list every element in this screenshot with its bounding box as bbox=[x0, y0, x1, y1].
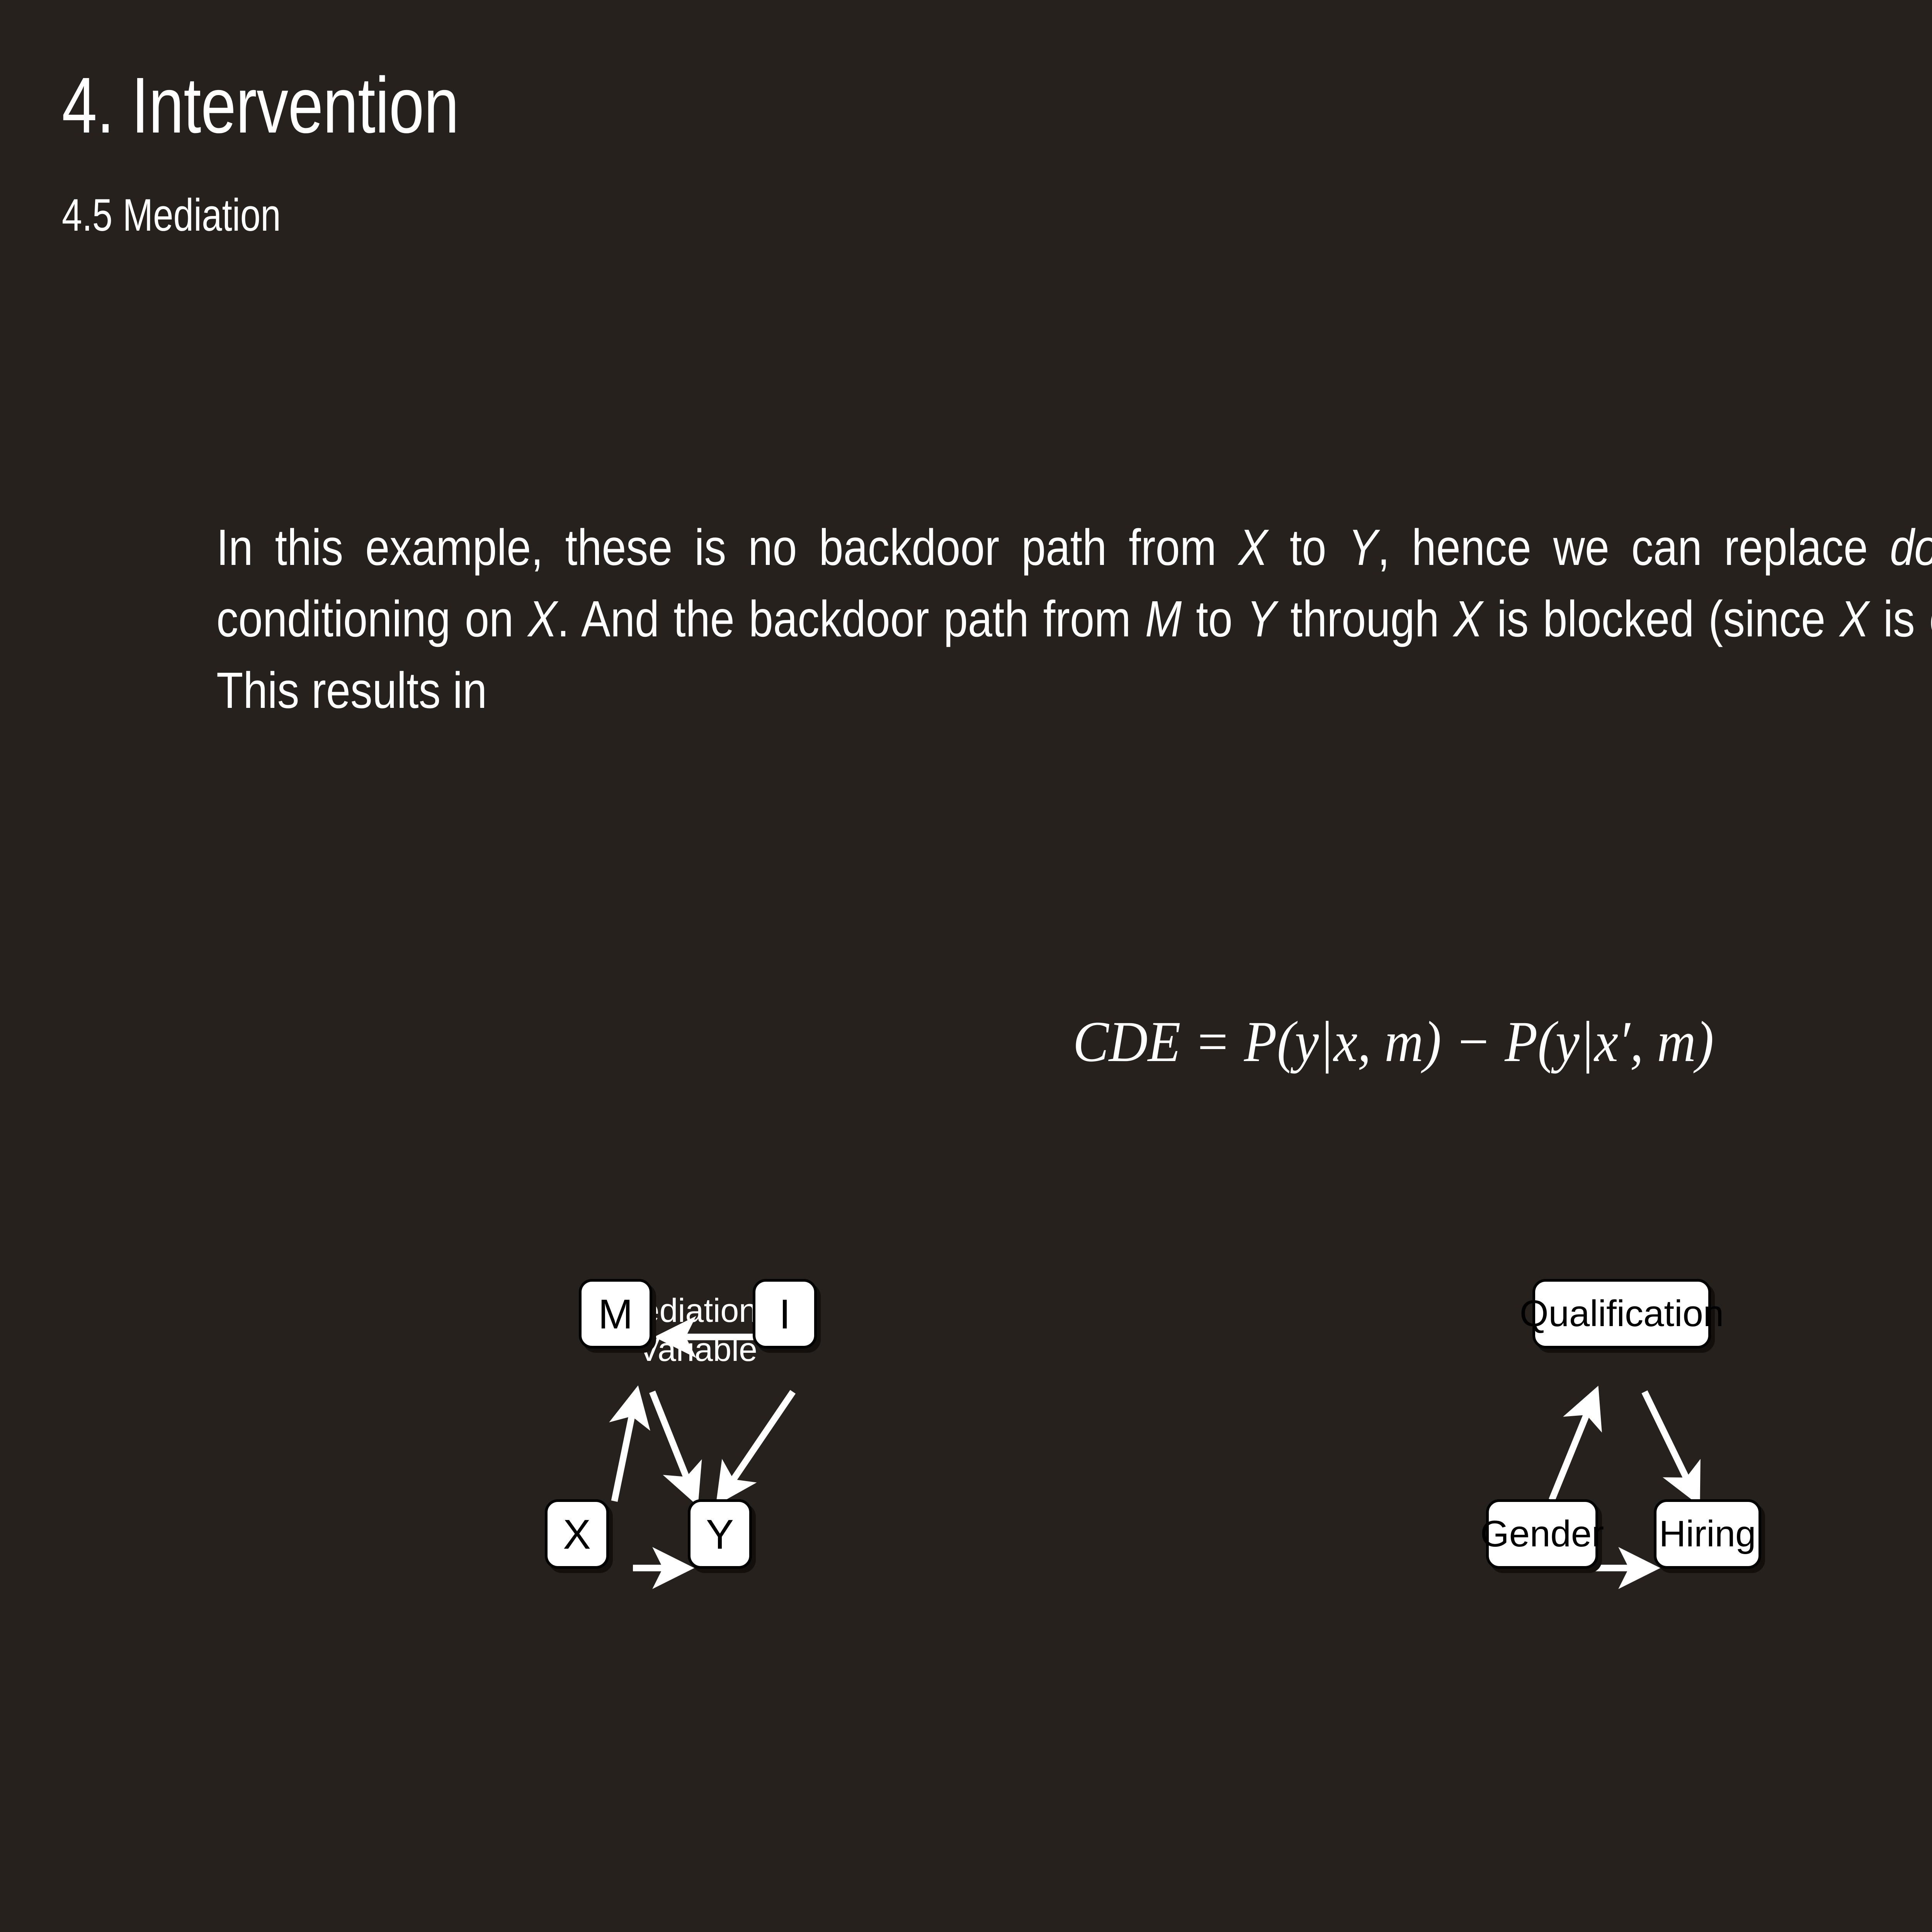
slide-header: 4. Intervention 4.5 Mediation bbox=[0, 0, 1932, 309]
node-i[interactable]: I bbox=[753, 1279, 817, 1349]
node-y[interactable]: Y bbox=[688, 1499, 752, 1569]
node-m-label: M bbox=[598, 1290, 633, 1338]
node-i-label: I bbox=[779, 1290, 791, 1338]
node-gender[interactable]: Gender bbox=[1486, 1499, 1598, 1569]
node-x[interactable]: X bbox=[545, 1499, 609, 1569]
body-paragraph: In this example, these is no backdoor pa… bbox=[216, 512, 1932, 726]
page-subtitle: 4.5 Mediation bbox=[62, 192, 281, 238]
node-qualification-label: Qualification bbox=[1520, 1293, 1724, 1335]
page-title: 4. Intervention bbox=[62, 66, 459, 145]
slide: 4. Intervention 4.5 Mediation In this ex… bbox=[0, 0, 1932, 1932]
node-hiring-label: Hiring bbox=[1659, 1513, 1756, 1555]
node-y-label: Y bbox=[706, 1510, 734, 1558]
node-m[interactable]: M bbox=[579, 1279, 652, 1349]
mediation-dag-abstract: Mediation Variable M bbox=[533, 1271, 1291, 1681]
node-qualification[interactable]: Qualification bbox=[1532, 1279, 1711, 1349]
node-x-label: X bbox=[563, 1510, 591, 1558]
hiring-dag-concrete: Qualification Gender Hiring bbox=[1476, 1271, 1932, 1681]
node-hiring[interactable]: Hiring bbox=[1654, 1499, 1761, 1569]
cde-formula: CDE = P(y|x, m) − P(y|x′, m) bbox=[97, 1009, 1932, 1075]
node-gender-label: Gender bbox=[1480, 1513, 1604, 1555]
